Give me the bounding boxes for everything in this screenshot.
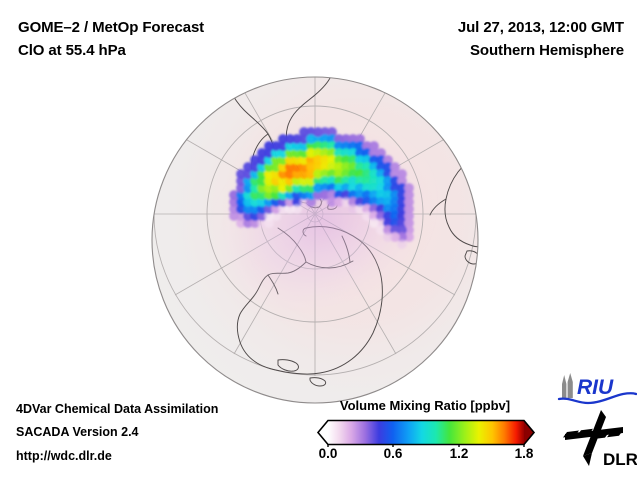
riu-logo: RIU	[557, 372, 637, 406]
colorbar-title: Volume Mixing Ratio [ppbv]	[300, 398, 550, 413]
colorbar-tick-2: 1.2	[436, 446, 482, 461]
colorbar-tick-1: 0.6	[370, 446, 416, 461]
footer-url: http://wdc.dlr.de	[16, 449, 112, 463]
riu-wordmark: RIU	[577, 376, 614, 399]
colorbar: Volume Mixing Ratio [ppbv]	[300, 398, 550, 472]
plume-cell	[369, 218, 379, 228]
title-instrument: GOME–2 / MetOp Forecast	[18, 19, 204, 36]
plume-cell	[292, 204, 302, 214]
footer-method: 4DVar Chemical Data Assimilation	[16, 402, 218, 416]
figure-canvas: GOME–2 / MetOp Forecast ClO at 55.4 hPa …	[0, 0, 640, 480]
footer-version: SACADA Version 2.4	[16, 425, 139, 439]
colorbar-scale	[300, 417, 550, 447]
plume-cell	[383, 232, 393, 242]
colorbar-tick-0: 0.0	[305, 446, 351, 461]
title-species: ClO at 55.4 hPa	[18, 42, 126, 59]
polar-projection-map	[150, 76, 480, 406]
plume-cell	[397, 239, 407, 249]
colorbar-tick-3: 1.8	[501, 446, 547, 461]
dlr-logo: DLR	[559, 408, 637, 470]
riu-towers-icon	[562, 373, 573, 398]
title-datetime: Jul 27, 2013, 12:00 GMT	[458, 19, 624, 36]
dlr-wordmark: DLR	[603, 450, 637, 469]
title-region: Southern Hemisphere	[470, 42, 624, 59]
